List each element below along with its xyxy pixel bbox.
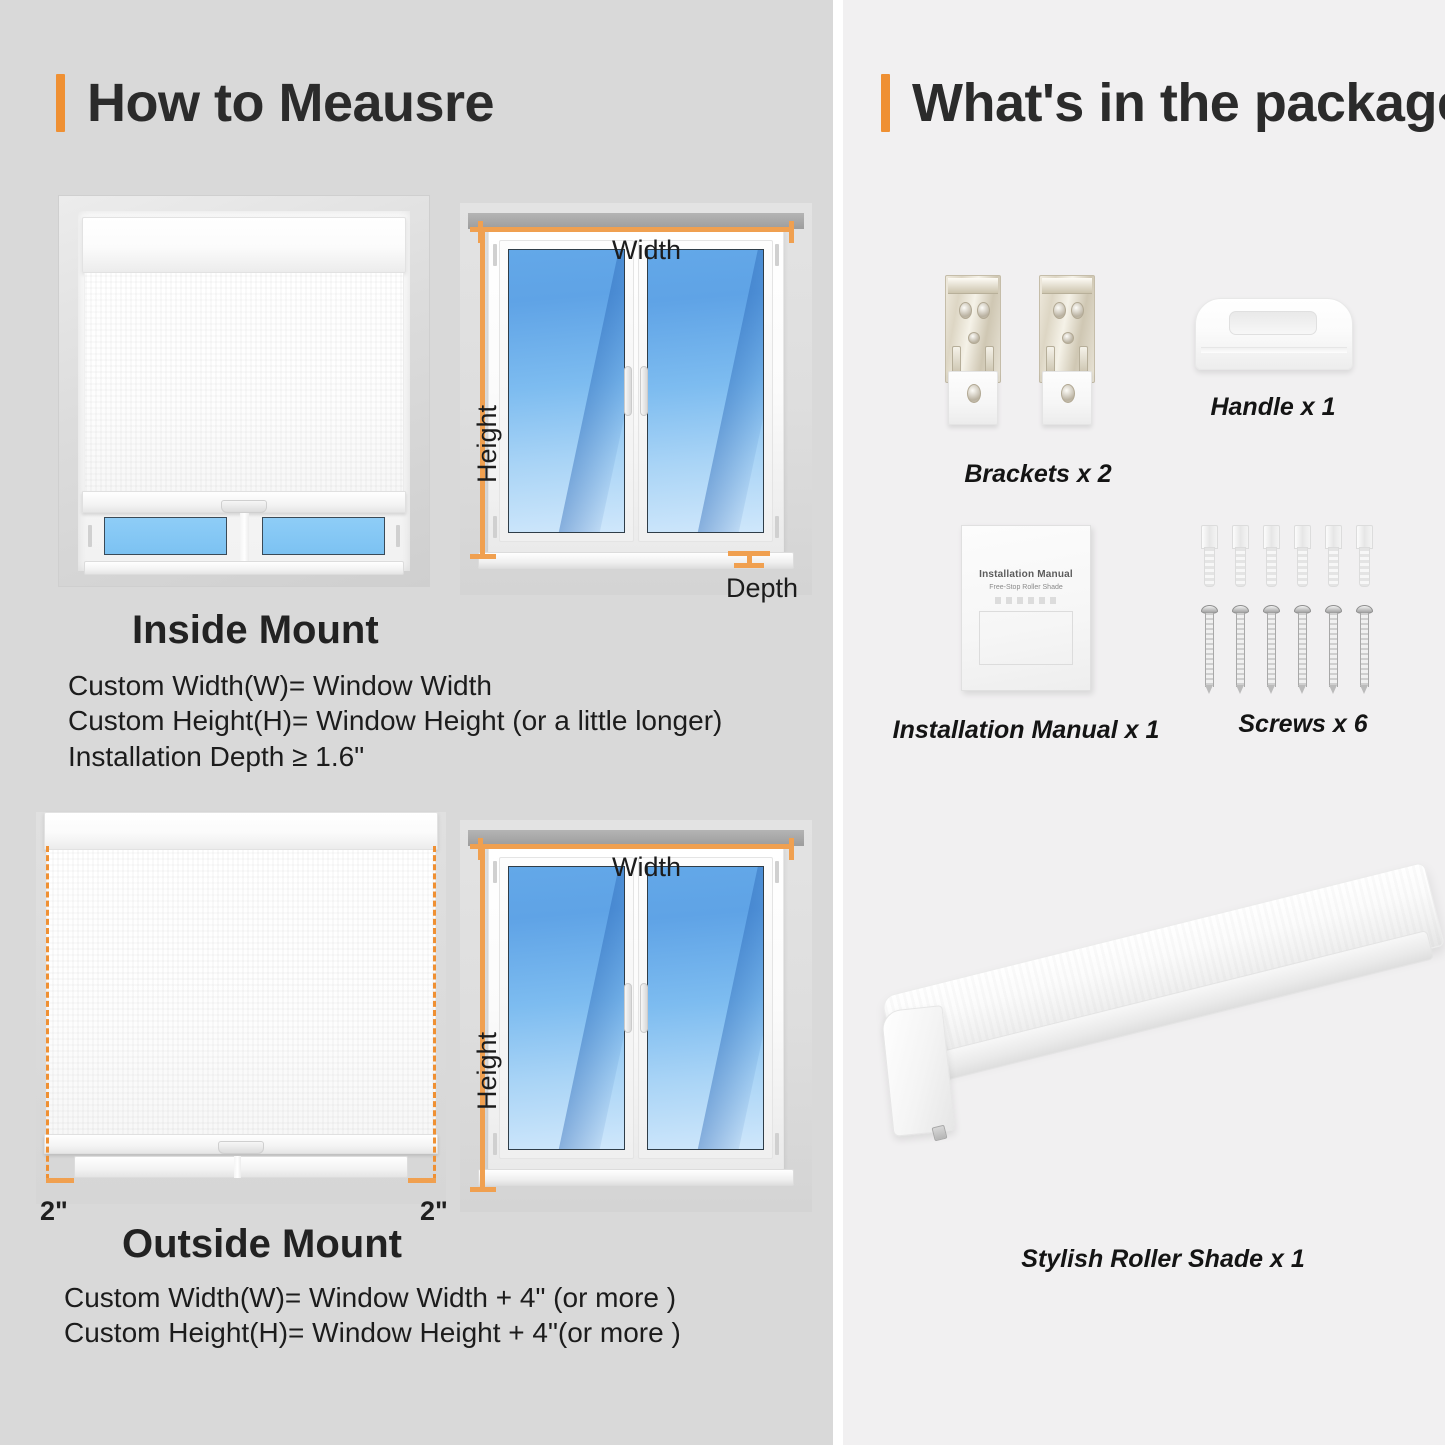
width-label: Width <box>612 235 681 266</box>
overhang-left-label: 2" <box>40 1196 68 1227</box>
inside-mount-spec-line: Custom Width(W)= Window Width <box>68 668 722 703</box>
outside-mount-title: Outside Mount <box>122 1222 402 1267</box>
width-measure-line <box>478 227 794 232</box>
handle-label: Handle x 1 <box>1173 393 1373 422</box>
sash-hinge-bottom-right <box>775 516 779 538</box>
package-contents-panel: What's in the package <box>843 0 1445 1445</box>
overhang-guide-left <box>46 846 49 1180</box>
sash-hinge-bottom-right <box>775 1133 779 1155</box>
height-cap-top-icon <box>470 227 496 232</box>
handle-illustration <box>1195 298 1353 370</box>
shade-pull-handle <box>221 500 267 513</box>
window-hinge-left <box>88 525 92 547</box>
height-cap-bottom-icon <box>470 554 496 559</box>
window-sash-right <box>638 240 773 542</box>
screw-icon <box>1356 605 1373 693</box>
outside-mount-specs: Custom Width(W)= Window Width + 4" (or m… <box>64 1280 681 1351</box>
window-handles-icon <box>623 366 649 416</box>
window-hinge-right <box>396 525 400 547</box>
height-measure-line <box>480 227 485 559</box>
window-mullion <box>240 513 249 565</box>
pane-glare <box>691 249 764 533</box>
manual-cover-ornament <box>995 597 1057 604</box>
pane-glare <box>552 866 625 1150</box>
accent-bar-icon <box>881 74 890 132</box>
bracket-hole <box>1062 332 1074 344</box>
window-handles-icon <box>623 983 649 1033</box>
window-sill <box>84 561 404 575</box>
handle-ridge <box>1201 347 1347 353</box>
window-pane-right <box>262 517 385 555</box>
overhang-right-label: 2" <box>420 1196 448 1227</box>
height-cap-bottom-icon <box>470 1187 496 1192</box>
sash-hinge-bottom-left <box>493 1133 497 1155</box>
screws-illustration <box>1201 525 1391 695</box>
window-sash-right <box>638 857 773 1159</box>
depth-label: Depth <box>726 573 798 604</box>
window-frame <box>488 229 784 553</box>
shade-fabric <box>84 273 404 493</box>
window-pane-right <box>647 249 764 533</box>
width-measure-line <box>478 844 794 849</box>
manual-cover-subtitle: Free-Stop Roller Shade <box>970 584 1082 591</box>
width-cap-right-icon <box>789 221 794 243</box>
sash-hinge-bottom-left <box>493 516 497 538</box>
overhang-guide-right <box>433 846 436 1180</box>
accent-bar-icon <box>56 74 65 132</box>
wall-anchor-icon <box>1201 525 1218 587</box>
bracket-top-flange <box>948 278 998 294</box>
window-pane-right <box>647 866 764 1150</box>
installation-manual-illustration: Installation Manual Free-Stop Roller Sha… <box>961 525 1091 691</box>
package-heading: What's in the package <box>881 72 1445 134</box>
page-title: How to Meausre <box>87 72 494 134</box>
shade-fabric <box>46 850 436 1136</box>
how-to-measure-panel: How to Meausre <box>0 0 833 1445</box>
screw-icon <box>1294 605 1311 693</box>
outside-mount-spec-line: Custom Width(W)= Window Width + 4" (or m… <box>64 1280 681 1315</box>
screw-icon <box>1325 605 1342 693</box>
roller-shade-illustration <box>883 868 1413 1198</box>
shade-bottom-rail <box>82 491 406 513</box>
wall-anchor-icon <box>1263 525 1280 587</box>
screw-icon <box>1232 605 1249 693</box>
bracket-hole <box>968 332 980 344</box>
window-sash-left <box>499 240 634 542</box>
height-label: Height <box>472 1032 503 1110</box>
bracket-hole <box>959 302 972 319</box>
how-to-measure-heading: How to Meausre <box>56 72 494 134</box>
manual-cover <box>961 525 1091 691</box>
bracket-hole <box>977 302 990 319</box>
manual-cover-figure-box <box>979 611 1073 665</box>
sash-hinge-top-left <box>493 861 497 883</box>
height-label: Height <box>472 405 503 483</box>
inside-mount-spec-line: Installation Depth ≥ 1.6" <box>68 739 722 774</box>
window-mullion <box>234 1156 241 1178</box>
inside-mount-window-diagram: Width Height Depth <box>460 203 812 595</box>
bracket-base <box>948 371 998 425</box>
roller-shade-end-cap <box>881 1005 956 1137</box>
outside-mount-spec-line: Custom Height(H)= Window Height + 4"(or … <box>64 1315 681 1350</box>
window-sash-left <box>499 857 634 1159</box>
outside-mount-window-diagram: Width Height <box>460 820 812 1212</box>
package-title: What's in the package <box>912 72 1445 134</box>
inside-mount-specs: Custom Width(W)= Window Width Custom Hei… <box>68 668 722 774</box>
handle-grip-slot <box>1229 311 1317 335</box>
screws-label: Screws x 6 <box>1193 710 1413 739</box>
bracket-hole <box>1071 302 1084 319</box>
bracket-hole <box>1053 302 1066 319</box>
bracket-top-flange <box>1042 278 1092 294</box>
overhang-arrow-left-icon <box>46 1178 74 1183</box>
window-frame <box>488 846 784 1170</box>
window-sill <box>74 1156 408 1178</box>
installation-manual-label: Installation Manual x 1 <box>871 716 1181 745</box>
infographic-page: How to Meausre <box>0 0 1445 1445</box>
inside-mount-title: Inside Mount <box>132 608 379 653</box>
height-measure-line <box>480 844 485 1192</box>
wall-anchor-icon <box>1325 525 1342 587</box>
window-pane-left <box>104 517 227 555</box>
shade-headrail <box>44 812 438 850</box>
manual-cover-title: Installation Manual <box>970 569 1082 580</box>
wall-anchor-icon <box>1232 525 1249 587</box>
bracket-base-hole <box>1061 384 1075 403</box>
width-label: Width <box>612 852 681 883</box>
outside-mount-shade-illustration <box>36 812 446 1204</box>
pane-glare <box>552 249 625 533</box>
inside-mount-spec-line: Custom Height(H)= Window Height (or a li… <box>68 703 722 738</box>
sash-hinge-top-right <box>775 861 779 883</box>
depth-cap-lower-icon <box>734 563 764 568</box>
roller-shade-label: Stylish Roller Shade x 1 <box>963 1245 1363 1274</box>
inside-mount-shade-illustration <box>58 195 430 587</box>
screw-icon <box>1201 605 1218 693</box>
window-pane-left <box>508 249 625 533</box>
bracket-icon <box>1039 275 1095 425</box>
window-pane-left <box>508 866 625 1150</box>
bracket-base-hole <box>967 384 981 403</box>
sash-hinge-top-right <box>775 244 779 266</box>
bracket-body <box>1039 275 1095 383</box>
pane-glare <box>691 866 764 1150</box>
wall-anchor-icon <box>1294 525 1311 587</box>
inside-mount-figures: Width Height Depth <box>0 195 833 595</box>
overhang-arrow-right-icon <box>408 1178 436 1183</box>
shade-pull-handle <box>218 1141 264 1154</box>
panel-divider <box>833 0 843 1445</box>
outside-mount-figures: Width Height <box>0 812 833 1217</box>
wall-anchor-icon <box>1356 525 1373 587</box>
width-cap-right-icon <box>789 838 794 860</box>
sash-hinge-top-left <box>493 244 497 266</box>
shade-headrail <box>82 217 406 273</box>
bracket-base <box>1042 371 1092 425</box>
window-sill <box>478 1169 794 1186</box>
bracket-body <box>945 275 1001 383</box>
brackets-label: Brackets x 2 <box>903 460 1173 489</box>
screw-icon <box>1263 605 1280 693</box>
bracket-icon <box>945 275 1001 425</box>
shade-bottom-rail <box>44 1134 438 1154</box>
brackets-illustration <box>935 275 1135 435</box>
height-cap-top-icon <box>470 844 496 849</box>
